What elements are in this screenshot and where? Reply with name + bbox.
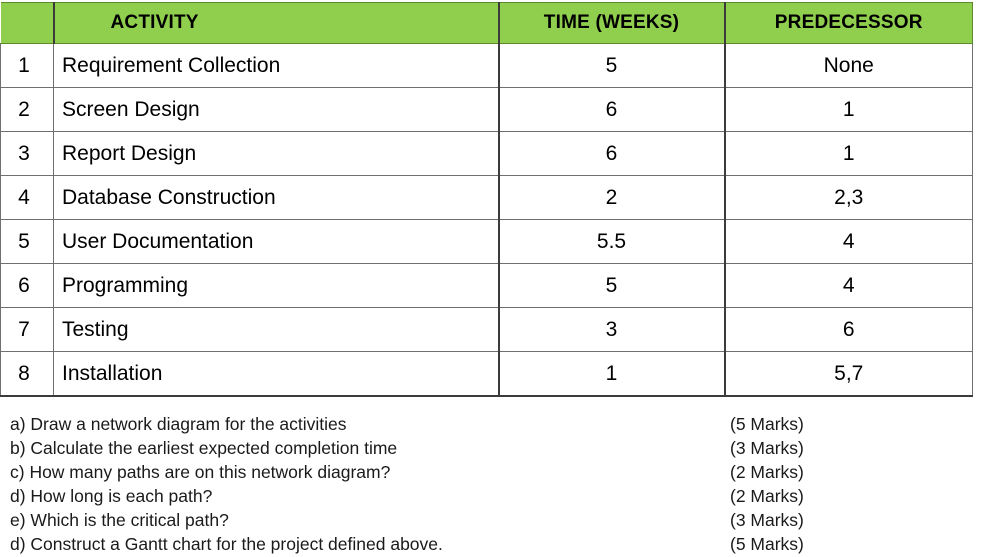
column-header-time: TIME (WEEKS)	[499, 3, 725, 44]
cell-predecessor: 6	[725, 308, 973, 352]
table-row: 3 Report Design 6 1	[1, 132, 973, 176]
cell-time: 1	[499, 352, 725, 397]
table-row: 6 Programming 5 4	[1, 264, 973, 308]
activity-table: ACTIVITY TIME (WEEKS) PREDECESSOR 1 Requ…	[0, 2, 973, 397]
column-header-activity: ACTIVITY	[54, 3, 499, 44]
cell-activity: Requirement Collection	[54, 44, 499, 88]
question-marks: (2 Marks)	[730, 460, 804, 484]
question-marks: (3 Marks)	[730, 508, 804, 532]
cell-row-number: 6	[1, 264, 54, 308]
cell-activity: Installation	[54, 352, 499, 397]
question-marks: (2 Marks)	[730, 484, 804, 508]
question-item: a) Draw a network diagram for the activi…	[10, 412, 992, 436]
table-row: 5 User Documentation 5.5 4	[1, 220, 973, 264]
cell-row-number: 4	[1, 176, 54, 220]
cell-activity: Testing	[54, 308, 499, 352]
table-row: 1 Requirement Collection 5 None	[1, 44, 973, 88]
table-row: 4 Database Construction 2 2,3	[1, 176, 973, 220]
cell-predecessor: 4	[725, 220, 973, 264]
column-header-predecessor: PREDECESSOR	[725, 3, 973, 44]
question-marks: (3 Marks)	[730, 436, 804, 460]
questions-list: a) Draw a network diagram for the activi…	[10, 412, 992, 556]
question-text: a) Draw a network diagram for the activi…	[10, 412, 347, 436]
cell-time: 5	[499, 264, 725, 308]
question-text: d) Construct a Gantt chart for the proje…	[10, 532, 443, 556]
cell-predecessor: 1	[725, 88, 973, 132]
question-item: e) Which is the critical path? (3 Marks)	[10, 508, 992, 532]
question-item: d) Construct a Gantt chart for the proje…	[10, 532, 992, 556]
table-header: ACTIVITY TIME (WEEKS) PREDECESSOR	[1, 3, 973, 44]
cell-row-number: 8	[1, 352, 54, 397]
cell-time: 5.5	[499, 220, 725, 264]
cell-predecessor: None	[725, 44, 973, 88]
question-marks: (5 Marks)	[730, 412, 804, 436]
cell-row-number: 1	[1, 44, 54, 88]
question-marks: (5 Marks)	[730, 532, 804, 556]
cell-row-number: 7	[1, 308, 54, 352]
cell-activity: Database Construction	[54, 176, 499, 220]
table-row: 2 Screen Design 6 1	[1, 88, 973, 132]
cell-time: 6	[499, 88, 725, 132]
cell-activity: Screen Design	[54, 88, 499, 132]
cell-predecessor: 5,7	[725, 352, 973, 397]
cell-activity: User Documentation	[54, 220, 499, 264]
question-text: c) How many paths are on this network di…	[10, 460, 390, 484]
cell-time: 3	[499, 308, 725, 352]
question-text: b) Calculate the earliest expected compl…	[10, 436, 397, 460]
cell-activity: Programming	[54, 264, 499, 308]
cell-row-number: 2	[1, 88, 54, 132]
cell-row-number: 5	[1, 220, 54, 264]
question-item: b) Calculate the earliest expected compl…	[10, 436, 992, 460]
table-body: 1 Requirement Collection 5 None 2 Screen…	[1, 44, 973, 397]
question-item: c) How many paths are on this network di…	[10, 460, 992, 484]
question-text: d) How long is each path?	[10, 484, 212, 508]
cell-row-number: 3	[1, 132, 54, 176]
activity-table-container: ACTIVITY TIME (WEEKS) PREDECESSOR 1 Requ…	[0, 2, 972, 397]
cell-predecessor: 1	[725, 132, 973, 176]
column-header-number	[1, 3, 54, 44]
question-text: e) Which is the critical path?	[10, 508, 229, 532]
cell-time: 6	[499, 132, 725, 176]
cell-activity: Report Design	[54, 132, 499, 176]
table-row: 8 Installation 1 5,7	[1, 352, 973, 397]
cell-time: 5	[499, 44, 725, 88]
cell-time: 2	[499, 176, 725, 220]
table-row: 7 Testing 3 6	[1, 308, 973, 352]
question-item: d) How long is each path? (2 Marks)	[10, 484, 992, 508]
table-header-row: ACTIVITY TIME (WEEKS) PREDECESSOR	[1, 3, 973, 44]
cell-predecessor: 4	[725, 264, 973, 308]
cell-predecessor: 2,3	[725, 176, 973, 220]
